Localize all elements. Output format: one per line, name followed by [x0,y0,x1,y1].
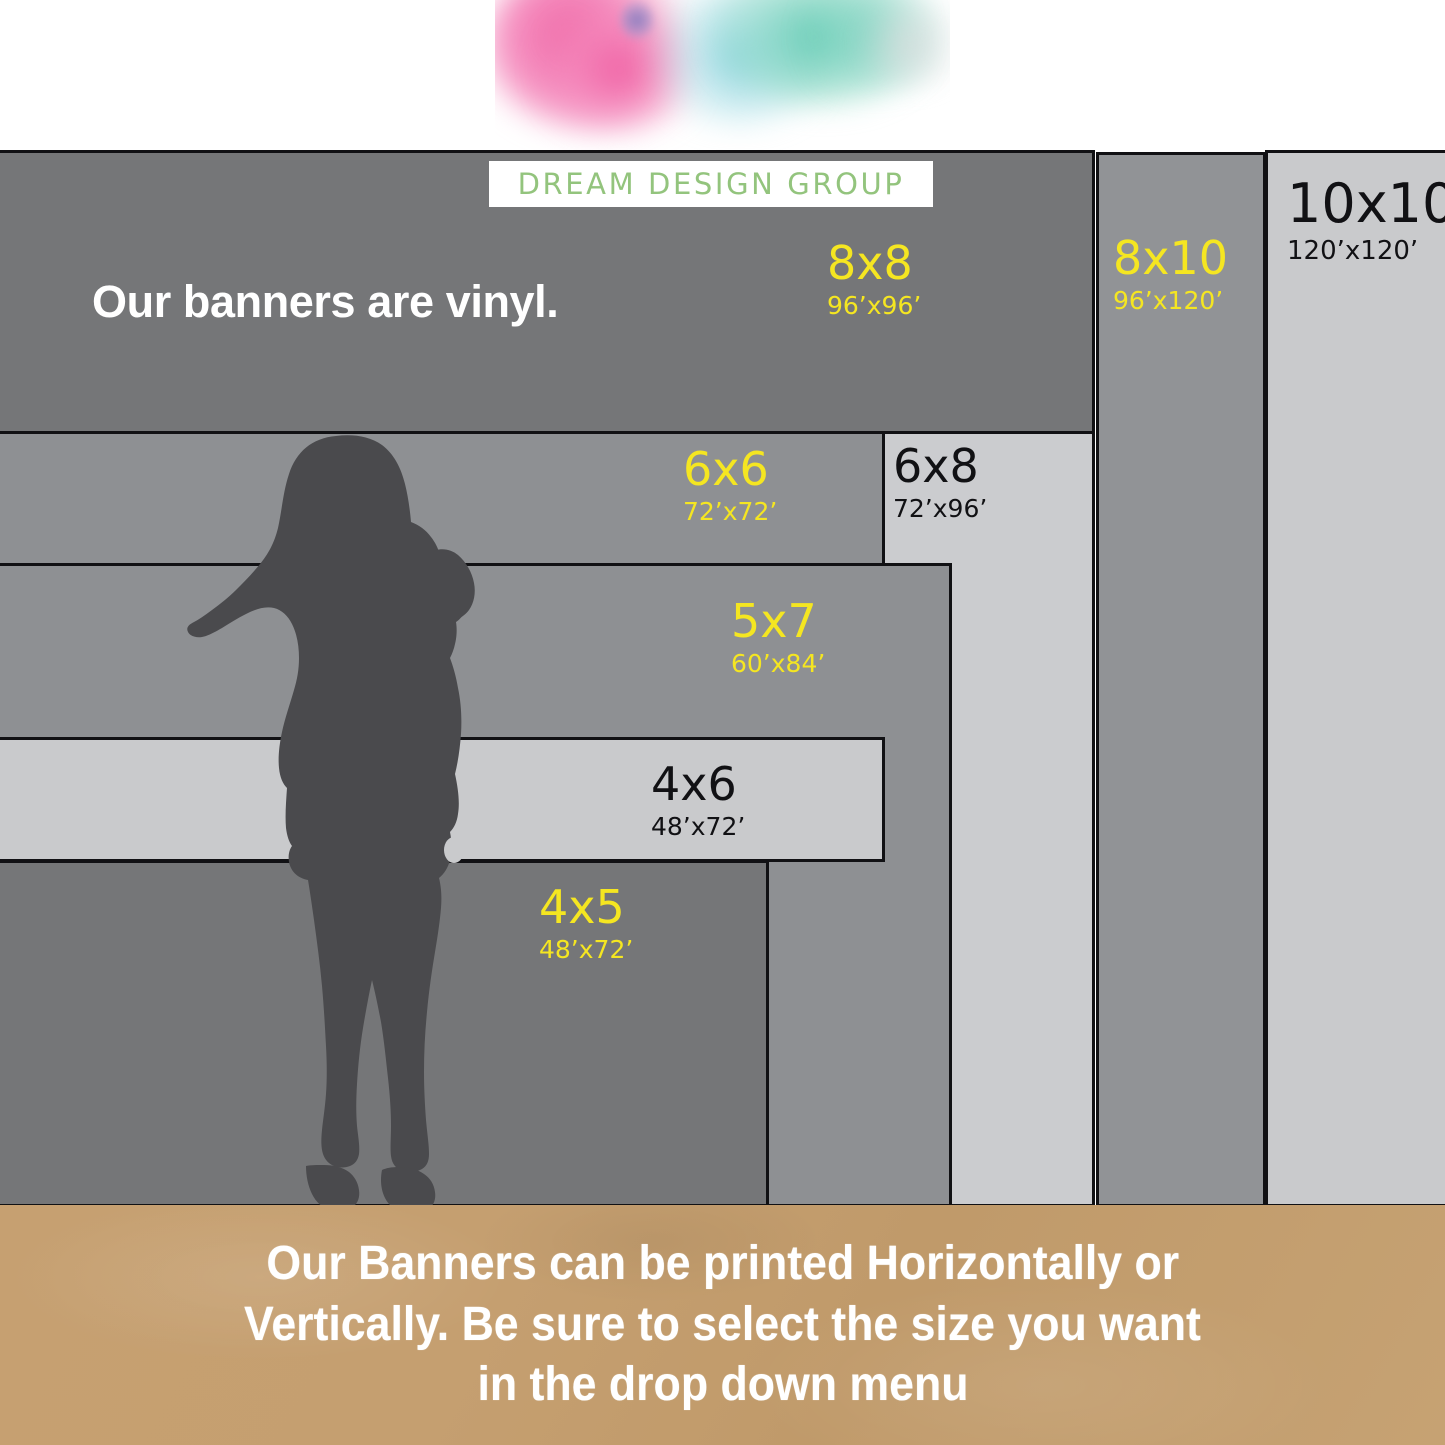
label-10x10-dimensions: 120’x120’ [1287,238,1445,264]
label-4x5-size: 4x5 [539,884,633,930]
label-6x8-dimensions: 72’x96’ [893,496,987,521]
label-4x5-dimensions: 48’x72’ [539,937,633,962]
label-8x10-size: 8x10 [1113,235,1228,281]
footer-panel: Our Banners can be printed Horizontally … [0,1205,1445,1445]
label-6x6-size: 6x6 [683,446,777,492]
label-4x6-size: 4x6 [651,761,745,807]
woman-silhouette-icon [186,432,496,1214]
label-6x8-size: 6x8 [893,443,987,489]
label-6x6: 6x6 72’x72’ [683,446,777,524]
label-8x8-dimensions: 96’x96’ [827,293,921,318]
page-title: Our banners are vinyl. [92,276,558,328]
label-4x5: 4x5 48’x72’ [539,884,633,962]
label-4x6: 4x6 48’x72’ [651,761,745,839]
watercolor-splash-icon [495,0,950,150]
footer-line-1: Our Banners can be printed Horizontally … [266,1234,1179,1294]
label-4x6-dimensions: 48’x72’ [651,814,745,839]
label-8x10-dimensions: 96’x120’ [1113,288,1228,313]
footer-line-2: Vertically. Be sure to select the size y… [244,1295,1201,1355]
label-10x10-size: 10x10 [1287,177,1445,231]
label-6x6-dimensions: 72’x72’ [683,499,777,524]
banner-size-chart: Our banners are vinyl. 8x8 96’x96’ 8x10 … [0,0,1445,1445]
label-5x7-dimensions: 60’x84’ [731,651,825,676]
label-8x8: 8x8 96’x96’ [827,240,921,318]
label-5x7: 5x7 60’x84’ [731,598,825,676]
footer-line-3: in the drop down menu [477,1355,968,1415]
label-10x10: 10x10 120’x120’ [1287,177,1445,264]
brand-name: DREAM DESIGN GROUP [489,161,933,207]
label-8x8-size: 8x8 [827,240,921,286]
label-6x8: 6x8 72’x96’ [893,443,987,521]
banner-rect-10x10[interactable] [1265,150,1445,1207]
label-5x7-size: 5x7 [731,598,825,644]
label-8x10: 8x10 96’x120’ [1113,235,1228,313]
